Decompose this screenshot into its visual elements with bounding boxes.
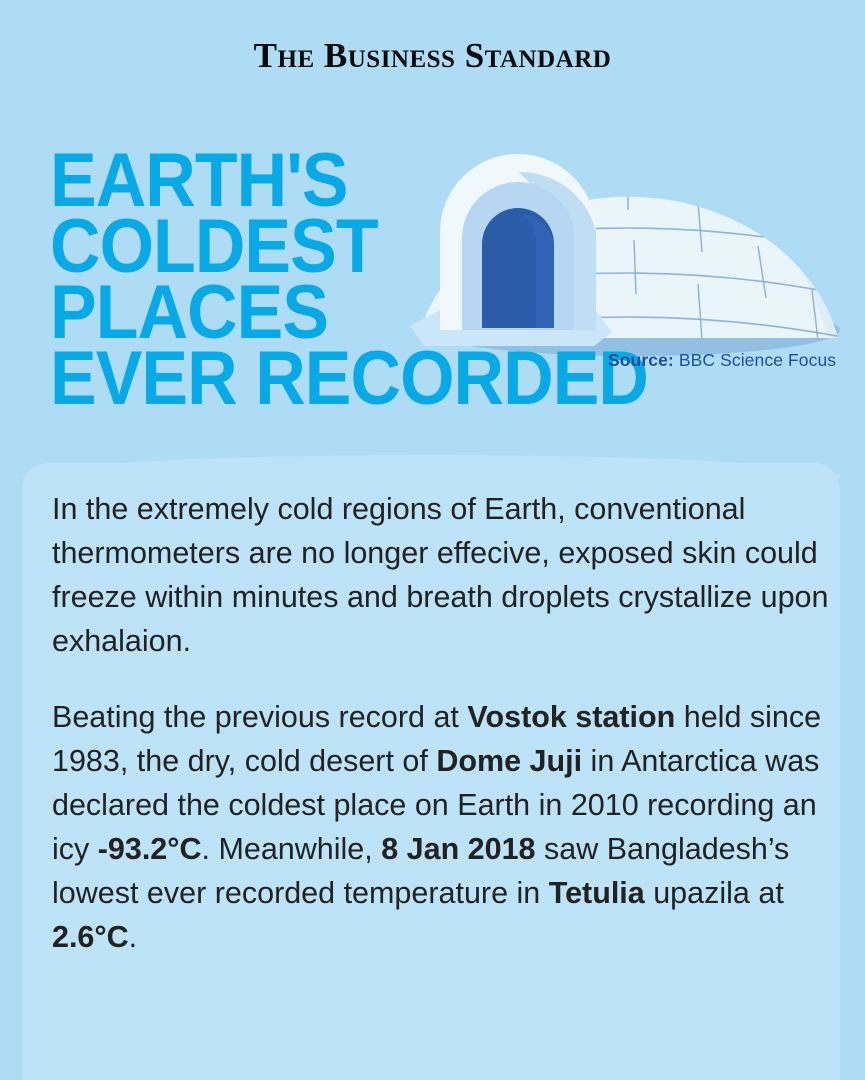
emphasis-term: Vostok station: [467, 700, 675, 734]
body-copy: In the extremely cold regions of Earth, …: [52, 487, 842, 991]
paragraph-intro: In the extremely cold regions of Earth, …: [52, 487, 842, 663]
page-title: EARTH'S COLDEST PLACES EVER RECORDED: [50, 148, 648, 412]
source-credit: Source: BBC Science Focus: [608, 350, 836, 371]
emphasis-term: 2.6°C: [52, 920, 129, 954]
emphasis-term: Tetulia: [549, 876, 645, 910]
body-text-run: .: [129, 920, 137, 954]
body-text-run: upazila at: [645, 876, 784, 910]
headline-line-4: EVER RECORDED: [50, 346, 648, 412]
masthead-logo: The Business Standard: [0, 36, 865, 76]
source-label: Source:: [608, 350, 674, 370]
infographic-page: The Business Standard EARTH'S COLDEST PL…: [0, 0, 865, 1080]
body-text-run: Beating the previous record at: [52, 700, 467, 734]
paragraph-records: Beating the previous record at Vostok st…: [52, 695, 842, 959]
emphasis-term: -93.2°C: [98, 832, 202, 866]
source-value: BBC Science Focus: [679, 350, 836, 370]
emphasis-term: 8 Jan 2018: [381, 832, 535, 866]
emphasis-term: Dome Juji: [436, 744, 582, 778]
body-text-run: . Meanwhile,: [202, 832, 382, 866]
